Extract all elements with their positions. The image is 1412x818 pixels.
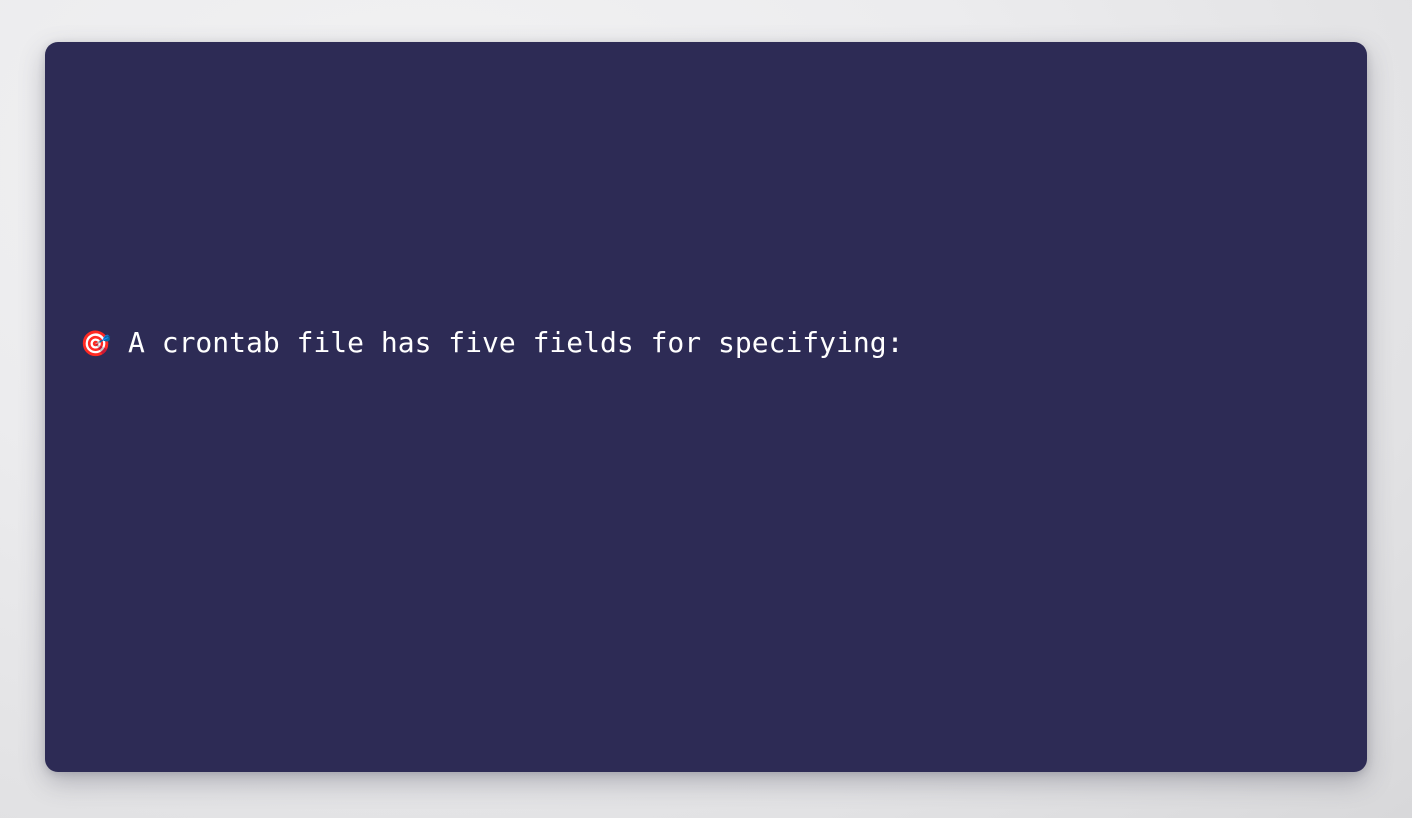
blank-line-1 — [80, 518, 1243, 568]
star-field-row: * * * * * command to be executed — [80, 768, 1243, 772]
intro-text: A crontab file has five fields for speci… — [111, 326, 903, 359]
page-root: 🎯 A crontab file has five fields for spe… — [0, 0, 1412, 818]
intro-line: 🎯 A crontab file has five fields for spe… — [80, 318, 1243, 368]
dart-target-icon: 🎯 — [80, 329, 111, 358]
crontab-code-block: 🎯 A crontab file has five fields for spe… — [80, 118, 1243, 772]
crontab-reference-card: 🎯 A crontab file has five fields for spe… — [45, 42, 1367, 772]
